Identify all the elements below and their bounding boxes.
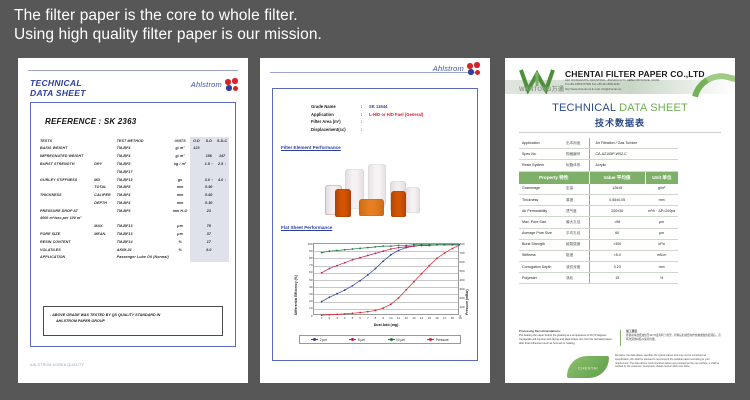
- table-header-cell: Property 特性: [519, 171, 589, 184]
- table-header-cell: UNITS: [170, 137, 191, 145]
- chart-data-point: [336, 293, 338, 295]
- chart-data-point: [367, 311, 369, 313]
- chart-y-tick-label-right: 100: [460, 306, 465, 309]
- table-cell: TM-BF14: [116, 238, 170, 246]
- table-cell: mm: [170, 184, 191, 192]
- table-header-row: TESTSTEST METHODUNITSO.DS.DS.D-C: [39, 137, 229, 145]
- chart-plot-area: 0102030405060708090100010020030040050060…: [313, 243, 459, 315]
- chart-data-point: [352, 259, 354, 261]
- table-cell: %: [170, 246, 191, 254]
- footer-en-body: Pre-heating the paper before the pleatin…: [519, 334, 614, 346]
- table-cell: 4000 m³/sec,per 100 m²: [39, 215, 93, 223]
- chart-legend-item[interactable]: 10 μm: [388, 338, 405, 342]
- company-address: Add: WUXIHESTOL INDUSTRIAL, JINZHOU CITY…: [565, 79, 659, 92]
- chart-x-tick-label: 13: [412, 316, 415, 320]
- chart-data-point: [321, 314, 323, 316]
- table-cell: [215, 230, 229, 238]
- chart-data-point: [336, 313, 338, 315]
- panel3-title-chinese: 技术数据表: [505, 116, 735, 129]
- property-unit: kPa: [645, 239, 678, 250]
- chart-legend-item[interactable]: Pressure: [427, 338, 448, 342]
- table-cell: MEAN.: [93, 230, 115, 238]
- filter-can-illustration: [406, 187, 420, 213]
- table-cell: [215, 238, 229, 246]
- table-row: Grammage定量126±5g/m²: [519, 184, 678, 195]
- table-row: THICKNESSCALIPERTM-BF4mm0.60: [39, 191, 229, 199]
- table-cell: [39, 199, 93, 207]
- table-cell: μm: [170, 223, 191, 231]
- table-row: Corrugation Depth波纹深度0.23mm: [519, 262, 678, 273]
- chart-data-point: [367, 255, 369, 257]
- chart-data-point: [382, 250, 384, 252]
- ahlstrom-logo-2: Ahlstrom: [433, 62, 480, 75]
- chart-y-tick-label-right: 600: [460, 261, 465, 264]
- table-cell: [170, 215, 191, 223]
- table-cell: [202, 168, 215, 176]
- table-cell: CALIPER: [93, 191, 115, 199]
- table-row: 4000 m³/sec,per 100 m²: [39, 215, 229, 223]
- table-cell: [190, 199, 202, 207]
- chentai-leaf-logo: CHENTAI: [567, 356, 609, 378]
- panel1-footer: AHLSTROM KOREA QUALITY: [30, 363, 84, 367]
- legend-label: 5 μm: [358, 338, 365, 342]
- chart-data-point: [436, 258, 438, 260]
- property-value: 0.23: [589, 262, 645, 273]
- table-cell: RESIN CONTENT: [39, 238, 93, 246]
- chart-y-tick-label: 50: [309, 279, 312, 282]
- property-value: 200±30: [589, 206, 645, 217]
- table-cell: BURST STRENGTH: [39, 160, 93, 168]
- chart-data-point: [352, 312, 354, 314]
- property-value: 60: [589, 228, 645, 239]
- legend-marker-icon: [349, 339, 356, 340]
- quality-note: - ABOVE GRADE WAS TESTED BY QS QUALITY S…: [43, 306, 223, 336]
- panel3-title-part-2: DATA SHEET: [619, 102, 688, 114]
- table-cell: [190, 160, 202, 168]
- property-value: >300: [589, 239, 645, 250]
- table-cell: TM-BF4: [116, 191, 170, 199]
- ahlstrom-flower-icon: [225, 78, 238, 91]
- property-unit: mN.m: [645, 250, 678, 261]
- ahlstrom-wordmark: Ahlstrom: [191, 80, 222, 89]
- table-row: IMPREGNATED WEIGHTTM-BF4g/ m²156147: [39, 153, 229, 161]
- table-cell: VOLATILES: [39, 246, 93, 254]
- table-row: MAX.TM-BF13μm78: [39, 223, 229, 231]
- table-cell: 0.30: [202, 199, 215, 207]
- table-cell: [190, 191, 202, 199]
- chart-y-tick-label: 80: [309, 257, 312, 260]
- property-unit: μm: [645, 228, 678, 239]
- chart-x-tick-label: 14: [420, 316, 423, 320]
- chart-y-tick-label: 10: [309, 307, 312, 310]
- chart-data-point: [382, 307, 384, 309]
- table-cell: [93, 215, 115, 223]
- table-cell: [93, 145, 115, 153]
- header-rule: [28, 70, 238, 71]
- wantong-wordmark: WANTONG万通: [519, 84, 564, 93]
- chart-data-point: [390, 245, 392, 247]
- table-cell: mm: [170, 191, 191, 199]
- section-flat-sheet-performance[interactable]: Flat Sheet Performance: [281, 225, 332, 230]
- title-separator: [519, 132, 721, 133]
- property-unit: μm: [645, 217, 678, 228]
- table-cell: kg / m²: [170, 160, 191, 168]
- table-cell: [170, 168, 191, 176]
- table-cell: [93, 254, 115, 262]
- chart-data-point: [398, 245, 400, 247]
- table-cell: [190, 223, 202, 231]
- chart-x-tick-label: 15: [428, 316, 431, 320]
- footer-en-title: Processing Recommendations:: [519, 329, 561, 333]
- disclaimer-text: Remarks: the data above specifies the ty…: [615, 354, 721, 369]
- chart-data-point: [390, 248, 392, 250]
- table-cell: [190, 168, 202, 176]
- chart-data-point: [328, 314, 330, 316]
- chart-data-point: [444, 244, 446, 246]
- chart-x-tick-label: 9: [382, 316, 384, 320]
- table-cell: [215, 223, 229, 231]
- table-header-cell: S.D-C: [215, 137, 229, 145]
- property-unit: g/m²: [645, 184, 678, 195]
- table-row: TM-BF17: [39, 168, 229, 176]
- table-row: BURST STRENGTHDRYTM-BF8kg / m²1.5 ↑2.5 ↑: [39, 160, 229, 168]
- chart-series-line: [322, 245, 460, 302]
- property-name-chinese: 破裂强度: [563, 239, 589, 250]
- property-name: Burst Strength: [519, 239, 563, 250]
- chart-data-point: [444, 252, 446, 254]
- panel1-title: TECHNICAL DATA SHEET: [30, 78, 86, 98]
- chart-data-point: [321, 252, 323, 254]
- reference-label: REFERENCE : SK 2363: [45, 117, 136, 126]
- chart-data-point: [344, 289, 346, 291]
- quality-note-line-2: AHLSTROM PAPER GROUP: [50, 318, 216, 324]
- property-value: <98: [589, 217, 645, 228]
- footer-chinese: 加工建议 折叠前将滤纸加热至40-70度有利于成型，折叠后的滤纸在作热熔或加热处…: [620, 330, 721, 346]
- property-name-chinese: 透气度: [563, 206, 589, 217]
- address-line-3: http://www.chentai.net E-mail: info@chen…: [565, 88, 659, 92]
- table-row: Burst Strength破裂强度>300kPa: [519, 239, 678, 250]
- table-row: DEPTHTM-BF4mm0.30: [39, 199, 229, 207]
- property-name: Air Permeability: [519, 206, 563, 217]
- chart-data-point: [367, 247, 369, 249]
- chart-data-point: [390, 303, 392, 305]
- metadata-row: Displacement(cc):: [311, 126, 423, 134]
- table-row: PORE SIZEMEAN.TM-BF13μm37: [39, 230, 229, 238]
- chart-x-tick-label: 11: [397, 316, 400, 320]
- chart-y-tick-label: 40: [309, 286, 312, 289]
- company-name: CHENTAI FILTER PAPER CO.,LTD: [565, 69, 705, 79]
- metadata-row: Grade Name:SK 11544: [311, 103, 423, 111]
- headline: The filter paper is the core to whole fi…: [14, 6, 634, 44]
- table-cell: THICKNESS: [39, 191, 93, 199]
- table-cell: 78: [202, 223, 215, 231]
- metadata-separator: :: [361, 126, 369, 134]
- table-cell: %: [170, 238, 191, 246]
- table-cell: 17: [202, 238, 215, 246]
- metadata-value: SK 11544: [369, 103, 387, 111]
- property-name-chinese: 挺度: [563, 250, 589, 261]
- property-unit: mm: [645, 262, 678, 273]
- property-name: Max. Pore Size: [519, 217, 563, 228]
- table-cell: [215, 215, 229, 223]
- chart-legend-item[interactable]: 2 μm: [311, 338, 327, 342]
- metadata-key: Filter Area (m²): [311, 118, 361, 126]
- property-name-chinese: 波纹深度: [563, 262, 589, 273]
- chart-data-point: [344, 249, 346, 251]
- table-row: APPLICATIONPassenger Lube Oil (Normal): [39, 254, 229, 262]
- table-cell: TM-BF13: [116, 223, 170, 231]
- metadata-separator: :: [361, 111, 369, 119]
- chart-data-point: [359, 257, 361, 259]
- property-unit: m³/h · ΔP=200pa: [645, 206, 678, 217]
- chart-x-tick-label: 4: [344, 316, 346, 320]
- footer-cn-body: 折叠前将滤纸加热至40-70度有利于成型，折叠后的滤纸在作热熔或加热处理后，应再…: [626, 334, 721, 342]
- table-cell: 37: [202, 230, 215, 238]
- document-panel-chentai[interactable]: WANTONG万通 CHENTAI FILTER PAPER CO.,LTD A…: [505, 58, 735, 383]
- footer-english: Processing Recommendations: Pre-heating …: [519, 330, 614, 346]
- panel3-title: TECHNICAL DATA SHEET: [505, 102, 735, 114]
- table-row: PRESSURE DROP ATTM-BF9mm H₂O23: [39, 207, 229, 215]
- chart-data-point: [336, 265, 338, 267]
- info-row: Application出本用途Air Filtration / Gas Turb…: [519, 138, 678, 149]
- chart-x-tick-label: 3: [336, 316, 338, 320]
- panel3-footer: Processing Recommendations: Pre-heating …: [519, 330, 721, 346]
- chart-data-point: [436, 244, 438, 246]
- table-cell: [39, 168, 93, 176]
- chart-data-point: [375, 246, 377, 248]
- chart-legend-item[interactable]: 5 μm: [349, 338, 365, 342]
- table-cell: [190, 246, 202, 254]
- info-value: Acrylic: [589, 160, 678, 171]
- table-cell: PRESSURE DROP AT: [39, 207, 93, 215]
- filter-can-illustration: [391, 191, 406, 217]
- chart-x-tick-label: 18: [451, 316, 454, 320]
- table-cell: mm H₂O: [170, 207, 191, 215]
- chart-data-point: [321, 301, 323, 303]
- chart-data-point: [359, 247, 361, 249]
- info-key-chinese: 出本用途: [563, 138, 589, 149]
- property-name: Polyester: [519, 273, 563, 284]
- table-cell: [202, 215, 215, 223]
- chart-x-tick-label: 10: [389, 316, 392, 320]
- technical-data-table-3: Application出本用途Air Filtration / Gas Turb…: [519, 138, 678, 284]
- property-value: 0.55±0.05: [589, 194, 645, 205]
- chart-y-tick-label: 100: [307, 243, 312, 246]
- table-cell: TM-BF9: [116, 207, 170, 215]
- table-cell: PORE SIZE: [39, 230, 93, 238]
- table-cell: APPLICATION: [39, 254, 93, 262]
- table-header-cell: TEST METHOD: [116, 137, 170, 145]
- table-cell: [190, 215, 202, 223]
- table-cell: [93, 238, 115, 246]
- chart-y-tick-label: 0: [311, 315, 313, 318]
- chart-y-axis-label-right: Pressure (mBar): [465, 289, 469, 315]
- table-cell: TM-BF8: [116, 160, 170, 168]
- chart-y-tick-label-right: 500: [460, 270, 465, 273]
- headline-line-2: Using high quality filter paper is our m…: [14, 25, 634, 44]
- info-row: Spec No.规格编号CA-A2105P-W02-C: [519, 149, 678, 160]
- chart-data-point: [328, 296, 330, 298]
- table-cell: μm: [170, 230, 191, 238]
- property-name-chinese: 最大孔径: [563, 217, 589, 228]
- info-value: CA-A2105P-W02-C: [589, 149, 678, 160]
- metadata-separator: :: [361, 118, 369, 126]
- table-cell: 6.0: [202, 246, 215, 254]
- legend-label: Pressure: [436, 338, 449, 342]
- table-cell: [190, 230, 202, 238]
- table-cell: g/ m²: [170, 145, 191, 153]
- chart-y-tick-label-right: 800: [460, 243, 465, 246]
- table-cell: BASIS WEIGHT: [39, 145, 93, 153]
- document-panel-ahlstrom-sk2363[interactable]: TECHNICAL DATA SHEET Ahlstrom REFERENCE …: [18, 58, 248, 383]
- metadata-key: Grade Name: [311, 103, 361, 111]
- chart-y-tick-label: 70: [309, 264, 312, 267]
- chart-y-tick-label: 90: [309, 250, 312, 253]
- legend-label: 2 μm: [320, 338, 327, 342]
- table-cell: 2.5 ↑: [215, 160, 229, 168]
- chart-data-point: [421, 273, 423, 275]
- ahlstrom-wordmark-2: Ahlstrom: [433, 64, 464, 73]
- panel2-content-box: Grade Name:SK 11544Application:L-H/D or …: [272, 88, 478, 361]
- panel1-title-line-2: DATA SHEET: [30, 88, 86, 98]
- table-cell: [170, 254, 191, 262]
- table-header-row-3: Property 特性Value 平均值Unit 单位: [519, 171, 678, 184]
- metadata-separator: :: [361, 103, 369, 111]
- table-cell: [190, 254, 202, 262]
- table-row: Polyester涤纶15%: [519, 273, 678, 284]
- info-key: Application: [519, 138, 563, 149]
- table-cell: 147: [215, 153, 229, 161]
- table-row: Air Permeability透气度200±30m³/h · ΔP=200pa: [519, 206, 678, 217]
- chart-data-point: [398, 247, 400, 249]
- table-cell: MD: [93, 176, 115, 184]
- headline-line-1: The filter paper is the core to whole fi…: [14, 6, 634, 25]
- filter-can-illustration: [335, 189, 351, 217]
- table-cell: 0.60: [202, 191, 215, 199]
- property-unit: mm: [645, 194, 678, 205]
- chart-x-axis-label: Dust Add (mg): [313, 323, 459, 327]
- table-cell: [190, 207, 202, 215]
- table-cell: TM-BF13: [116, 230, 170, 238]
- metadata-key: Application: [311, 111, 361, 119]
- table-row: GURLEY STIFFNESSMDTM-BF13gs3.0 ↑4.0 ↑: [39, 176, 229, 184]
- chart-x-tick-label: 6: [359, 316, 361, 320]
- panel1-title-line-1: TECHNICAL: [30, 78, 86, 88]
- sheet-2: Ahlstrom Grade Name:SK 11544Application:…: [260, 58, 490, 383]
- chart-data-point: [398, 297, 400, 299]
- table-header-cell: S.D: [202, 137, 215, 145]
- technical-data-table-1: TESTSTEST METHODUNITSO.DS.DS.D-CBASIS WE…: [39, 137, 229, 262]
- table-cell: [116, 215, 170, 223]
- table-row: Max. Pore Size最大孔径<98μm: [519, 217, 678, 228]
- chart-data-point: [359, 280, 361, 282]
- table-row: Stiffness挺度>5.0mN.m: [519, 250, 678, 261]
- chart-data-point: [367, 274, 369, 276]
- table-cell: Passenger Lube Oil (Normal): [116, 254, 170, 262]
- filter-element-illustration: [273, 159, 477, 219]
- chart-data-point: [428, 265, 430, 267]
- table-cell: mm: [170, 199, 191, 207]
- table-row: RESIN CONTENTTM-BF14%17: [39, 238, 229, 246]
- table-cell: [215, 191, 229, 199]
- table-cell: [93, 246, 115, 254]
- sheet-1: TECHNICAL DATA SHEET Ahlstrom REFERENCE …: [18, 58, 248, 383]
- chart-data-point: [344, 313, 346, 315]
- table-header-cell: O.D: [190, 137, 202, 145]
- chart-data-point: [336, 250, 338, 252]
- table-cell: 1.5 ↑: [202, 160, 215, 168]
- property-name: Grammage: [519, 184, 563, 195]
- table-cell: TOTAL: [93, 184, 115, 192]
- info-key: Resin System: [519, 160, 563, 171]
- chart-data-point: [352, 285, 354, 287]
- panel1-content-box: REFERENCE : SK 2363 TESTSTEST METHODUNIT…: [30, 102, 236, 347]
- table-header-cell: Value 平均值: [589, 171, 645, 184]
- table-cell: TM-BF8: [116, 184, 170, 192]
- document-panel-ahlstrom-sk11544[interactable]: Ahlstrom Grade Name:SK 11544Application:…: [260, 58, 490, 383]
- chart-y-tick-label-right: 700: [460, 252, 465, 255]
- table-cell: gs: [170, 176, 191, 184]
- chart-data-point: [405, 289, 407, 291]
- table-header-cell: TESTS: [39, 137, 93, 145]
- chart-x-tick-label: 8: [375, 316, 377, 320]
- chart-y-tick-label: 60: [309, 271, 312, 274]
- table-cell: [215, 184, 229, 192]
- table-cell: [215, 168, 229, 176]
- flat-sheet-performance-chart: Differential Efficiency (%) Pressure (mB…: [291, 239, 467, 341]
- property-name: Corrugation Depth: [519, 262, 563, 273]
- property-name: Thickness: [519, 194, 563, 205]
- chart-data-point: [328, 250, 330, 252]
- table-cell: TM-BF4: [116, 145, 170, 153]
- table-cell: 23: [202, 207, 215, 215]
- table-cell: 0.90: [202, 184, 215, 192]
- section-filter-element-performance[interactable]: Filter Element Performance: [281, 145, 341, 150]
- table-cell: [215, 207, 229, 215]
- table-cell: [93, 168, 115, 176]
- info-value: Air Filtration / Gas Turbine: [589, 138, 678, 149]
- chart-series-svg: [314, 244, 460, 316]
- metadata-key: Displacement(cc): [311, 126, 361, 134]
- chart-x-tick-label: 17: [443, 316, 446, 320]
- table-cell: [190, 176, 202, 184]
- table-cell: TM-BF4: [116, 153, 170, 161]
- info-key-chinese: 树脂体系: [563, 160, 589, 171]
- chart-data-point: [451, 248, 453, 250]
- table-cell: TM-BF13: [116, 176, 170, 184]
- chart-data-point: [413, 281, 415, 283]
- table-cell: [39, 184, 93, 192]
- chart-x-tick-label: 1: [321, 316, 323, 320]
- table-cell: [215, 246, 229, 254]
- chart-data-point: [398, 250, 400, 252]
- table-cell: g/ m²: [170, 153, 191, 161]
- chart-data-point: [328, 268, 330, 270]
- chart-data-point: [375, 268, 377, 270]
- property-unit: %: [645, 273, 678, 284]
- table-cell: [215, 199, 229, 207]
- table-cell: [215, 254, 229, 262]
- chart-y-axis-label: Differential Efficiency (%): [294, 275, 298, 315]
- info-key: Spec No.: [519, 149, 563, 160]
- table-cell: 156: [202, 153, 215, 161]
- chart-data-point: [382, 260, 384, 262]
- ahlstrom-logo-1: Ahlstrom: [191, 78, 238, 91]
- table-cell: MAX.: [93, 223, 115, 231]
- property-name-chinese: 厚度: [563, 194, 589, 205]
- chart-y-tick-label-right: 400: [460, 279, 465, 282]
- chart-x-tick-label: 7: [367, 316, 369, 320]
